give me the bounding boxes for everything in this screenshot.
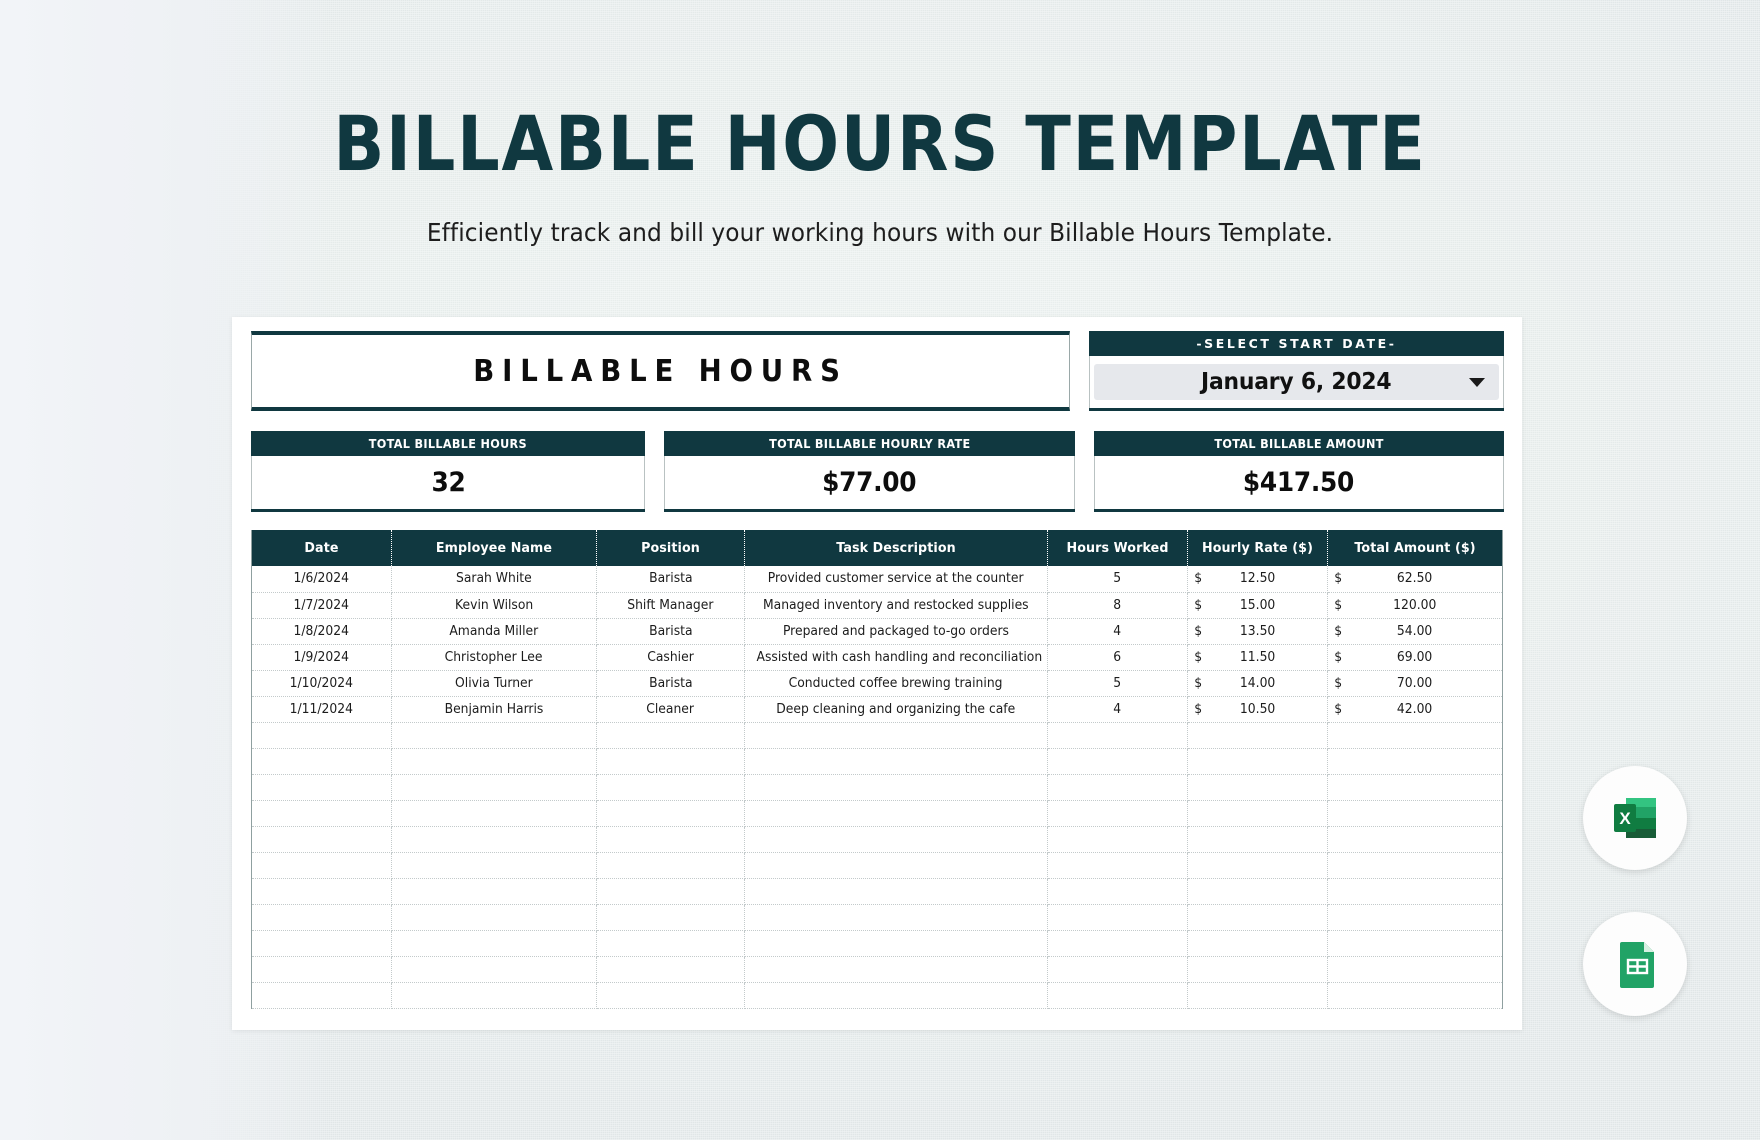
cell-position[interactable]: Barista bbox=[597, 618, 745, 644]
cell-empty[interactable] bbox=[1328, 800, 1503, 826]
excel-icon: X bbox=[1608, 791, 1662, 845]
cell-position-text: Cashier bbox=[647, 650, 694, 665]
cell-total-amount-text: 120.00 bbox=[1393, 598, 1436, 613]
cell-hours-worked-text: 6 bbox=[1114, 650, 1122, 665]
cell-task-description-text: Prepared and packaged to-go orders bbox=[783, 624, 1009, 639]
cell-total-amount-text: 54.00 bbox=[1397, 624, 1432, 639]
cell-total-amount-text: 62.50 bbox=[1397, 571, 1432, 586]
cell-empty[interactable] bbox=[1048, 956, 1188, 982]
cell-date[interactable]: 1/8/2024 bbox=[252, 618, 392, 644]
cell-empty[interactable] bbox=[1048, 826, 1188, 852]
cell-task-description[interactable]: Assisted with cash handling and reconcil… bbox=[745, 644, 1048, 670]
billable-hours-title-box: BILLABLE HOURS bbox=[251, 331, 1070, 411]
stat-label-total-billable-hourly-rate: TOTAL BILLABLE HOURLY RATE bbox=[664, 431, 1074, 456]
cell-employee-name[interactable]: Olivia Turner bbox=[392, 670, 597, 696]
cell-empty[interactable] bbox=[1188, 722, 1328, 748]
cell-date-text: 1/6/2024 bbox=[294, 571, 349, 586]
column-header-position[interactable]: Position bbox=[597, 530, 745, 566]
cell-empty[interactable] bbox=[252, 852, 392, 878]
cell-empty[interactable] bbox=[392, 748, 597, 774]
billable-hours-table: Date Employee Name Position Task Descrip… bbox=[251, 530, 1503, 1009]
stat-total-billable-hours: TOTAL BILLABLE HOURS 32 bbox=[251, 431, 645, 512]
cell-empty[interactable] bbox=[597, 826, 745, 852]
table-row-empty[interactable] bbox=[252, 774, 1503, 800]
cell-hourly-rate-text: 12.50 bbox=[1240, 571, 1275, 586]
cell-date[interactable]: 1/6/2024 bbox=[252, 566, 392, 592]
column-header-hours-worked[interactable]: Hours Worked bbox=[1048, 530, 1188, 566]
cell-hours-worked[interactable]: 4 bbox=[1048, 696, 1188, 722]
table-row-empty[interactable] bbox=[252, 800, 1503, 826]
cell-empty[interactable] bbox=[1048, 878, 1188, 904]
page-title: BILLABLE HOURS TEMPLATE bbox=[106, 106, 1655, 182]
table-row-empty[interactable] bbox=[252, 826, 1503, 852]
currency-symbol: $ bbox=[1194, 702, 1202, 717]
cell-employee-name-text: Amanda Miller bbox=[450, 624, 539, 639]
cell-task-description-text: Assisted with cash handling and reconcil… bbox=[757, 650, 1043, 665]
cell-empty[interactable] bbox=[597, 800, 745, 826]
svg-text:X: X bbox=[1619, 809, 1631, 828]
cell-empty[interactable] bbox=[392, 878, 597, 904]
cell-empty[interactable] bbox=[252, 800, 392, 826]
sheet-top-row: BILLABLE HOURS -SELECT START DATE- Janua… bbox=[251, 331, 1504, 411]
cell-date-text: 1/7/2024 bbox=[294, 598, 349, 613]
currency-symbol: $ bbox=[1194, 624, 1202, 639]
cell-empty[interactable] bbox=[392, 852, 597, 878]
cell-empty[interactable] bbox=[252, 774, 392, 800]
cell-hours-worked[interactable]: 5 bbox=[1048, 670, 1188, 696]
cell-empty[interactable] bbox=[597, 852, 745, 878]
column-header-text: Hours Worked bbox=[1052, 540, 1183, 556]
cell-empty[interactable] bbox=[597, 904, 745, 930]
cell-empty[interactable] bbox=[1188, 748, 1328, 774]
table-row-empty[interactable] bbox=[252, 748, 1503, 774]
cell-task-description[interactable]: Managed inventory and restocked supplies bbox=[745, 592, 1048, 618]
cell-empty[interactable] bbox=[252, 748, 392, 774]
stat-label-total-billable-hours: TOTAL BILLABLE HOURS bbox=[251, 431, 645, 456]
table-header-row: Date Employee Name Position Task Descrip… bbox=[252, 530, 1503, 566]
stat-total-billable-amount: TOTAL BILLABLE AMOUNT $417.50 bbox=[1094, 431, 1504, 512]
billable-hours-title: BILLABLE HOURS bbox=[473, 354, 848, 389]
cell-position[interactable]: Cleaner bbox=[597, 696, 745, 722]
cell-empty[interactable] bbox=[1188, 826, 1328, 852]
cell-empty[interactable] bbox=[1328, 774, 1503, 800]
summary-stats-row: TOTAL BILLABLE HOURS 32 TOTAL BILLABLE H… bbox=[251, 431, 1504, 512]
cell-date[interactable]: 1/10/2024 bbox=[252, 670, 392, 696]
table-row-empty[interactable] bbox=[252, 930, 1503, 956]
cell-empty[interactable] bbox=[1328, 904, 1503, 930]
cell-empty[interactable] bbox=[745, 904, 1048, 930]
column-header-task-description[interactable]: Task Description bbox=[745, 530, 1048, 566]
page-header: BILLABLE HOURS TEMPLATE Efficiently trac… bbox=[0, 106, 1760, 247]
column-header-hourly-rate[interactable]: Hourly Rate ($) bbox=[1188, 530, 1328, 566]
cell-empty[interactable] bbox=[1188, 956, 1328, 982]
cell-empty[interactable] bbox=[1048, 982, 1188, 1008]
stat-value-total-billable-hourly-rate: $77.00 bbox=[664, 456, 1074, 509]
cell-empty[interactable] bbox=[1328, 956, 1503, 982]
cell-empty[interactable] bbox=[1328, 826, 1503, 852]
cell-empty[interactable] bbox=[745, 748, 1048, 774]
currency-symbol: $ bbox=[1194, 571, 1202, 586]
currency-symbol: $ bbox=[1194, 598, 1202, 613]
cell-date[interactable]: 1/9/2024 bbox=[252, 644, 392, 670]
cell-empty[interactable] bbox=[1188, 982, 1328, 1008]
spreadsheet-panel: BILLABLE HOURS -SELECT START DATE- Janua… bbox=[232, 317, 1522, 1030]
stat-value-text: 32 bbox=[431, 467, 465, 498]
cell-empty[interactable] bbox=[1328, 852, 1503, 878]
cell-hours-worked-text: 4 bbox=[1114, 624, 1122, 639]
cell-empty[interactable] bbox=[252, 930, 392, 956]
cell-total-amount[interactable]: $62.50 bbox=[1328, 566, 1503, 592]
start-date-value: January 6, 2024 bbox=[1201, 369, 1391, 395]
cell-empty[interactable] bbox=[745, 878, 1048, 904]
cell-empty[interactable] bbox=[597, 722, 745, 748]
column-header-date[interactable]: Date bbox=[252, 530, 392, 566]
cell-empty[interactable] bbox=[1188, 878, 1328, 904]
cell-date-text: 1/8/2024 bbox=[294, 624, 349, 639]
cell-empty[interactable] bbox=[392, 774, 597, 800]
cell-task-description-text: Provided customer service at the counter bbox=[768, 571, 1024, 586]
stat-label-total-billable-amount: TOTAL BILLABLE AMOUNT bbox=[1094, 431, 1504, 456]
download-google-sheets-button[interactable] bbox=[1583, 912, 1687, 1016]
cell-empty[interactable] bbox=[392, 982, 597, 1008]
cell-empty[interactable] bbox=[1048, 904, 1188, 930]
cell-task-description[interactable]: Prepared and packaged to-go orders bbox=[745, 618, 1048, 644]
start-date-label: -SELECT START DATE- bbox=[1089, 331, 1504, 356]
spreadsheet-content: BILLABLE HOURS -SELECT START DATE- Janua… bbox=[251, 331, 1504, 1009]
cell-hourly-rate[interactable]: $14.00 bbox=[1188, 670, 1328, 696]
start-date-value-wrap: January 6, 2024 bbox=[1089, 356, 1504, 408]
table-row-empty[interactable] bbox=[252, 982, 1503, 1008]
cell-position[interactable]: Shift Manager bbox=[597, 592, 745, 618]
cell-hours-worked[interactable]: 6 bbox=[1048, 644, 1188, 670]
table-row-empty[interactable] bbox=[252, 852, 1503, 878]
start-date-selector: -SELECT START DATE- January 6, 2024 bbox=[1089, 331, 1504, 411]
cell-hourly-rate[interactable]: $12.50 bbox=[1188, 566, 1328, 592]
cell-empty[interactable] bbox=[392, 826, 597, 852]
table-row-empty[interactable] bbox=[252, 956, 1503, 982]
google-sheets-icon bbox=[1608, 937, 1662, 991]
cell-task-description[interactable]: Deep cleaning and organizing the cafe bbox=[745, 696, 1048, 722]
currency-symbol: $ bbox=[1334, 676, 1342, 691]
currency-symbol: $ bbox=[1194, 676, 1202, 691]
column-header-employee-name[interactable]: Employee Name bbox=[392, 530, 597, 566]
currency-symbol: $ bbox=[1334, 702, 1342, 717]
cell-hours-worked[interactable]: 5 bbox=[1048, 566, 1188, 592]
table-row[interactable]: 1/10/2024Olivia TurnerBaristaConducted c… bbox=[252, 670, 1503, 696]
cell-task-description-text: Deep cleaning and organizing the cafe bbox=[777, 702, 1016, 717]
cell-hours-worked[interactable]: 4 bbox=[1048, 618, 1188, 644]
cell-hourly-rate-text: 13.50 bbox=[1240, 624, 1275, 639]
cell-empty[interactable] bbox=[1048, 930, 1188, 956]
cell-empty[interactable] bbox=[252, 982, 392, 1008]
table-row-empty[interactable] bbox=[252, 722, 1503, 748]
cell-empty[interactable] bbox=[392, 800, 597, 826]
cell-empty[interactable] bbox=[597, 956, 745, 982]
cell-empty[interactable] bbox=[1048, 774, 1188, 800]
cell-empty[interactable] bbox=[597, 748, 745, 774]
chevron-down-icon[interactable] bbox=[1469, 378, 1485, 387]
stat-value-text: $417.50 bbox=[1243, 467, 1354, 498]
cell-employee-name-text: Benjamin Harris bbox=[445, 702, 544, 717]
cell-hours-worked-text: 4 bbox=[1114, 702, 1122, 717]
cell-empty[interactable] bbox=[1188, 904, 1328, 930]
cell-empty[interactable] bbox=[252, 956, 392, 982]
cell-date[interactable]: 1/11/2024 bbox=[252, 696, 392, 722]
page-subtitle: Efficiently track and bill your working … bbox=[44, 218, 1716, 247]
stat-label-text: TOTAL BILLABLE AMOUNT bbox=[1214, 436, 1383, 451]
cell-empty[interactable] bbox=[745, 930, 1048, 956]
cell-empty[interactable] bbox=[252, 722, 392, 748]
cell-empty[interactable] bbox=[1188, 800, 1328, 826]
cell-task-description[interactable]: Conducted coffee brewing training bbox=[745, 670, 1048, 696]
cell-position-text: Cleaner bbox=[647, 702, 695, 717]
cell-empty[interactable] bbox=[392, 722, 597, 748]
cell-empty[interactable] bbox=[1188, 930, 1328, 956]
cell-position-text: Shift Manager bbox=[627, 598, 713, 613]
cell-hourly-rate[interactable]: $13.50 bbox=[1188, 618, 1328, 644]
cell-empty[interactable] bbox=[745, 800, 1048, 826]
cell-empty[interactable] bbox=[252, 904, 392, 930]
table-row-empty[interactable] bbox=[252, 904, 1503, 930]
table-row[interactable]: 1/9/2024Christopher LeeCashierAssisted w… bbox=[252, 644, 1503, 670]
currency-symbol: $ bbox=[1334, 650, 1342, 665]
cell-total-amount[interactable]: $120.00 bbox=[1328, 592, 1503, 618]
cell-position[interactable]: Barista bbox=[597, 670, 745, 696]
cell-total-amount[interactable]: $42.00 bbox=[1328, 696, 1503, 722]
cell-date-text: 1/10/2024 bbox=[290, 676, 353, 691]
currency-symbol: $ bbox=[1334, 624, 1342, 639]
cell-date[interactable]: 1/7/2024 bbox=[252, 592, 392, 618]
cell-hourly-rate-text: 11.50 bbox=[1240, 650, 1275, 665]
cell-empty[interactable] bbox=[597, 774, 745, 800]
cell-empty[interactable] bbox=[597, 982, 745, 1008]
cell-hourly-rate[interactable]: $11.50 bbox=[1188, 644, 1328, 670]
cell-empty[interactable] bbox=[1328, 982, 1503, 1008]
cell-empty[interactable] bbox=[1328, 930, 1503, 956]
cell-hourly-rate-text: 10.50 bbox=[1240, 702, 1275, 717]
table-body: 1/6/2024Sarah WhiteBaristaProvided custo… bbox=[252, 566, 1503, 1008]
cell-empty[interactable] bbox=[252, 826, 392, 852]
cell-empty[interactable] bbox=[597, 930, 745, 956]
table-row-empty[interactable] bbox=[252, 878, 1503, 904]
cell-total-amount[interactable]: $69.00 bbox=[1328, 644, 1503, 670]
cell-empty[interactable] bbox=[745, 956, 1048, 982]
cell-employee-name-text: Sarah White bbox=[456, 571, 532, 586]
currency-symbol: $ bbox=[1334, 598, 1342, 613]
column-header-text: Date bbox=[256, 540, 387, 556]
column-header-text: Position bbox=[601, 540, 739, 556]
cell-empty[interactable] bbox=[252, 878, 392, 904]
cell-empty[interactable] bbox=[597, 878, 745, 904]
cell-empty[interactable] bbox=[1048, 722, 1188, 748]
table-row[interactable]: 1/8/2024Amanda MillerBaristaPrepared and… bbox=[252, 618, 1503, 644]
cell-empty[interactable] bbox=[1048, 800, 1188, 826]
start-date-dropdown[interactable]: January 6, 2024 bbox=[1094, 364, 1499, 400]
table-row[interactable]: 1/6/2024Sarah WhiteBaristaProvided custo… bbox=[252, 566, 1503, 592]
cell-hours-worked[interactable]: 8 bbox=[1048, 592, 1188, 618]
cell-employee-name[interactable]: Kevin Wilson bbox=[392, 592, 597, 618]
column-header-text: Task Description bbox=[754, 540, 1038, 556]
cell-empty[interactable] bbox=[1328, 748, 1503, 774]
cell-hours-worked-text: 5 bbox=[1114, 571, 1122, 586]
cell-hourly-rate[interactable]: $15.00 bbox=[1188, 592, 1328, 618]
cell-task-description-text: Conducted coffee brewing training bbox=[789, 676, 1003, 691]
stat-value-text: $77.00 bbox=[822, 467, 916, 498]
stat-value-total-billable-amount: $417.50 bbox=[1094, 456, 1504, 509]
cell-total-amount-text: 70.00 bbox=[1397, 676, 1432, 691]
column-header-text: Employee Name bbox=[398, 540, 590, 556]
cell-empty[interactable] bbox=[1048, 852, 1188, 878]
stat-label-text: TOTAL BILLABLE HOURLY RATE bbox=[769, 436, 970, 451]
column-header-text: Total Amount ($) bbox=[1333, 540, 1497, 556]
cell-empty[interactable] bbox=[392, 904, 597, 930]
cell-position-text: Barista bbox=[649, 676, 692, 691]
download-excel-button[interactable]: X bbox=[1583, 766, 1687, 870]
cell-employee-name-text: Kevin Wilson bbox=[455, 598, 533, 613]
cell-task-description-text: Managed inventory and restocked supplies bbox=[763, 598, 1029, 613]
cell-position[interactable]: Cashier bbox=[597, 644, 745, 670]
cell-employee-name[interactable]: Sarah White bbox=[392, 566, 597, 592]
table-row[interactable]: 1/11/2024Benjamin HarrisCleanerDeep clea… bbox=[252, 696, 1503, 722]
cell-position[interactable]: Barista bbox=[597, 566, 745, 592]
cell-employee-name[interactable]: Amanda Miller bbox=[392, 618, 597, 644]
cell-task-description[interactable]: Provided customer service at the counter bbox=[745, 566, 1048, 592]
cell-empty[interactable] bbox=[745, 722, 1048, 748]
table-header: Date Employee Name Position Task Descrip… bbox=[252, 530, 1503, 566]
cell-empty[interactable] bbox=[1048, 748, 1188, 774]
cell-date-text: 1/9/2024 bbox=[294, 650, 349, 665]
cell-empty[interactable] bbox=[1188, 852, 1328, 878]
currency-symbol: $ bbox=[1194, 650, 1202, 665]
stat-label-text: TOTAL BILLABLE HOURS bbox=[369, 436, 527, 451]
column-header-text: Hourly Rate ($) bbox=[1192, 540, 1323, 556]
cell-hours-worked-text: 5 bbox=[1114, 676, 1122, 691]
cell-hours-worked-text: 8 bbox=[1114, 598, 1122, 613]
cell-total-amount-text: 42.00 bbox=[1397, 702, 1432, 717]
cell-empty[interactable] bbox=[745, 982, 1048, 1008]
column-header-total-amount[interactable]: Total Amount ($) bbox=[1328, 530, 1503, 566]
cell-total-amount[interactable]: $70.00 bbox=[1328, 670, 1503, 696]
cell-position-text: Barista bbox=[649, 571, 692, 586]
cell-hourly-rate-text: 15.00 bbox=[1240, 598, 1275, 613]
cell-total-amount[interactable]: $54.00 bbox=[1328, 618, 1503, 644]
cell-hourly-rate-text: 14.00 bbox=[1240, 676, 1275, 691]
cell-employee-name-text: Olivia Turner bbox=[455, 676, 533, 691]
cell-empty[interactable] bbox=[392, 956, 597, 982]
stat-total-billable-hourly-rate: TOTAL BILLABLE HOURLY RATE $77.00 bbox=[664, 431, 1074, 512]
cell-position-text: Barista bbox=[649, 624, 692, 639]
cell-empty[interactable] bbox=[745, 826, 1048, 852]
cell-empty[interactable] bbox=[1328, 722, 1503, 748]
cell-date-text: 1/11/2024 bbox=[290, 702, 353, 717]
cell-empty[interactable] bbox=[745, 852, 1048, 878]
stat-value-total-billable-hours: 32 bbox=[251, 456, 645, 509]
table-row[interactable]: 1/7/2024Kevin WilsonShift ManagerManaged… bbox=[252, 592, 1503, 618]
cell-empty[interactable] bbox=[1328, 878, 1503, 904]
cell-empty[interactable] bbox=[1188, 774, 1328, 800]
cell-hourly-rate[interactable]: $10.50 bbox=[1188, 696, 1328, 722]
cell-empty[interactable] bbox=[745, 774, 1048, 800]
cell-total-amount-text: 69.00 bbox=[1397, 650, 1432, 665]
cell-empty[interactable] bbox=[392, 930, 597, 956]
cell-employee-name-text: Christopher Lee bbox=[445, 650, 543, 665]
cell-employee-name[interactable]: Christopher Lee bbox=[392, 644, 597, 670]
currency-symbol: $ bbox=[1334, 571, 1342, 586]
cell-employee-name[interactable]: Benjamin Harris bbox=[392, 696, 597, 722]
